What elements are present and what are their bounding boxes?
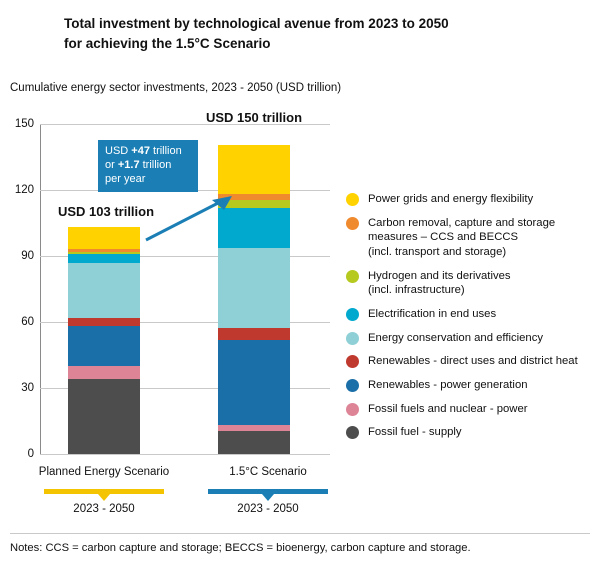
bar-segment-renewables-power[interactable]	[218, 340, 290, 425]
legend-color-swatch-icon	[346, 379, 359, 392]
x-label-15c-scenario: 1.5°C Scenario	[178, 466, 358, 478]
x-years-planned: 2023 - 2050	[44, 503, 164, 515]
legend-label: Fossil fuels and nuclear - power	[368, 402, 528, 417]
legend-color-swatch-icon	[346, 332, 359, 345]
legend-color-swatch-icon	[346, 355, 359, 368]
bar-segment-renewables-power[interactable]	[68, 326, 140, 366]
bar-total-label-15c: USD 150 trillion	[184, 110, 324, 125]
x-label-planned-energy-scenario: Planned Energy Scenario	[14, 466, 194, 478]
legend-color-swatch-icon	[346, 270, 359, 283]
legend-label: Electrification in end uses	[368, 307, 496, 322]
legend-color-swatch-icon	[346, 217, 359, 230]
legend-item[interactable]: Hydrogen and its derivatives (incl. infr…	[346, 269, 598, 298]
bar-segment-renewables-direct[interactable]	[68, 318, 140, 327]
bar-segment-fossil-nuclear-power[interactable]	[68, 366, 140, 379]
legend-color-swatch-icon	[346, 426, 359, 439]
y-tick-0: 0	[28, 448, 34, 460]
legend-label: Hydrogen and its derivatives (incl. infr…	[368, 269, 511, 298]
legend-item[interactable]: Fossil fuel - supply	[346, 425, 598, 440]
y-axis-line	[40, 124, 41, 454]
legend-color-swatch-icon	[346, 193, 359, 206]
bar-15c-scenario[interactable]	[218, 145, 290, 454]
callout-line-3: per year	[105, 173, 191, 187]
legend-color-swatch-icon	[346, 403, 359, 416]
legend-item[interactable]: Power grids and energy flexibility	[346, 192, 598, 207]
bar-segment-efficiency[interactable]	[68, 263, 140, 318]
chart-notes: Notes: CCS = carbon capture and storage;…	[10, 542, 471, 554]
legend-item[interactable]: Carbon removal, capture and storage meas…	[346, 216, 598, 260]
legend-label: Renewables - direct uses and district he…	[368, 354, 578, 369]
bar-planned-energy-scenario[interactable]	[68, 227, 140, 454]
legend-item[interactable]: Energy conservation and efficiency	[346, 331, 598, 346]
legend-item[interactable]: Renewables - power generation	[346, 378, 598, 393]
y-tick-150: 150	[15, 118, 34, 130]
bar-segment-power-grids[interactable]	[68, 227, 140, 249]
legend-color-swatch-icon	[346, 308, 359, 321]
bar-segment-power-grids[interactable]	[218, 145, 290, 195]
footer-divider	[10, 533, 590, 534]
legend-label: Carbon removal, capture and storage meas…	[368, 216, 555, 260]
x-caret-15c-icon	[262, 494, 274, 501]
legend-label: Fossil fuel - supply	[368, 425, 462, 440]
chart-subtitle: Cumulative energy sector investments, 20…	[10, 82, 341, 94]
legend-item[interactable]: Renewables - direct uses and district he…	[346, 354, 598, 369]
y-tick-60: 60	[21, 316, 34, 328]
callout-line2-prefix: or	[105, 159, 118, 171]
chart-legend: Power grids and energy flexibility Carbo…	[346, 192, 598, 449]
bar-segment-fossil-supply[interactable]	[68, 379, 140, 454]
callout-line1-value: +47	[131, 145, 150, 157]
y-tick-90: 90	[21, 250, 34, 262]
callout-arrow-icon	[144, 196, 234, 242]
callout-line1-prefix: USD	[105, 145, 131, 157]
bar-segment-fossil-supply[interactable]	[218, 431, 290, 454]
callout-line-1: USD +47 trillion	[105, 145, 191, 159]
callout-line1-suffix: trillion	[150, 145, 182, 157]
legend-item[interactable]: Electrification in end uses	[346, 307, 598, 322]
y-tick-120: 120	[15, 184, 34, 196]
bar-segment-renewables-direct[interactable]	[218, 328, 290, 340]
callout-line-2: or +1.7 trillion	[105, 159, 191, 173]
callout-box: USD +47 trillion or +1.7 trillion per ye…	[98, 140, 198, 192]
page-title: Total investment by technological avenue…	[64, 14, 484, 53]
bar-segment-electrification[interactable]	[68, 254, 140, 263]
legend-item[interactable]: Fossil fuels and nuclear - power	[346, 402, 598, 417]
gridline-0: 0	[40, 454, 330, 455]
legend-label: Renewables - power generation	[368, 378, 528, 393]
legend-label: Energy conservation and efficiency	[368, 331, 543, 346]
y-tick-30: 30	[21, 382, 34, 394]
bar-segment-efficiency[interactable]	[218, 248, 290, 328]
callout-line2-value: +1.7	[118, 159, 140, 171]
x-caret-planned-icon	[98, 494, 110, 501]
callout-line2-suffix: trillion	[140, 159, 172, 171]
legend-label: Power grids and energy flexibility	[368, 192, 533, 207]
x-years-15c: 2023 - 2050	[208, 503, 328, 515]
